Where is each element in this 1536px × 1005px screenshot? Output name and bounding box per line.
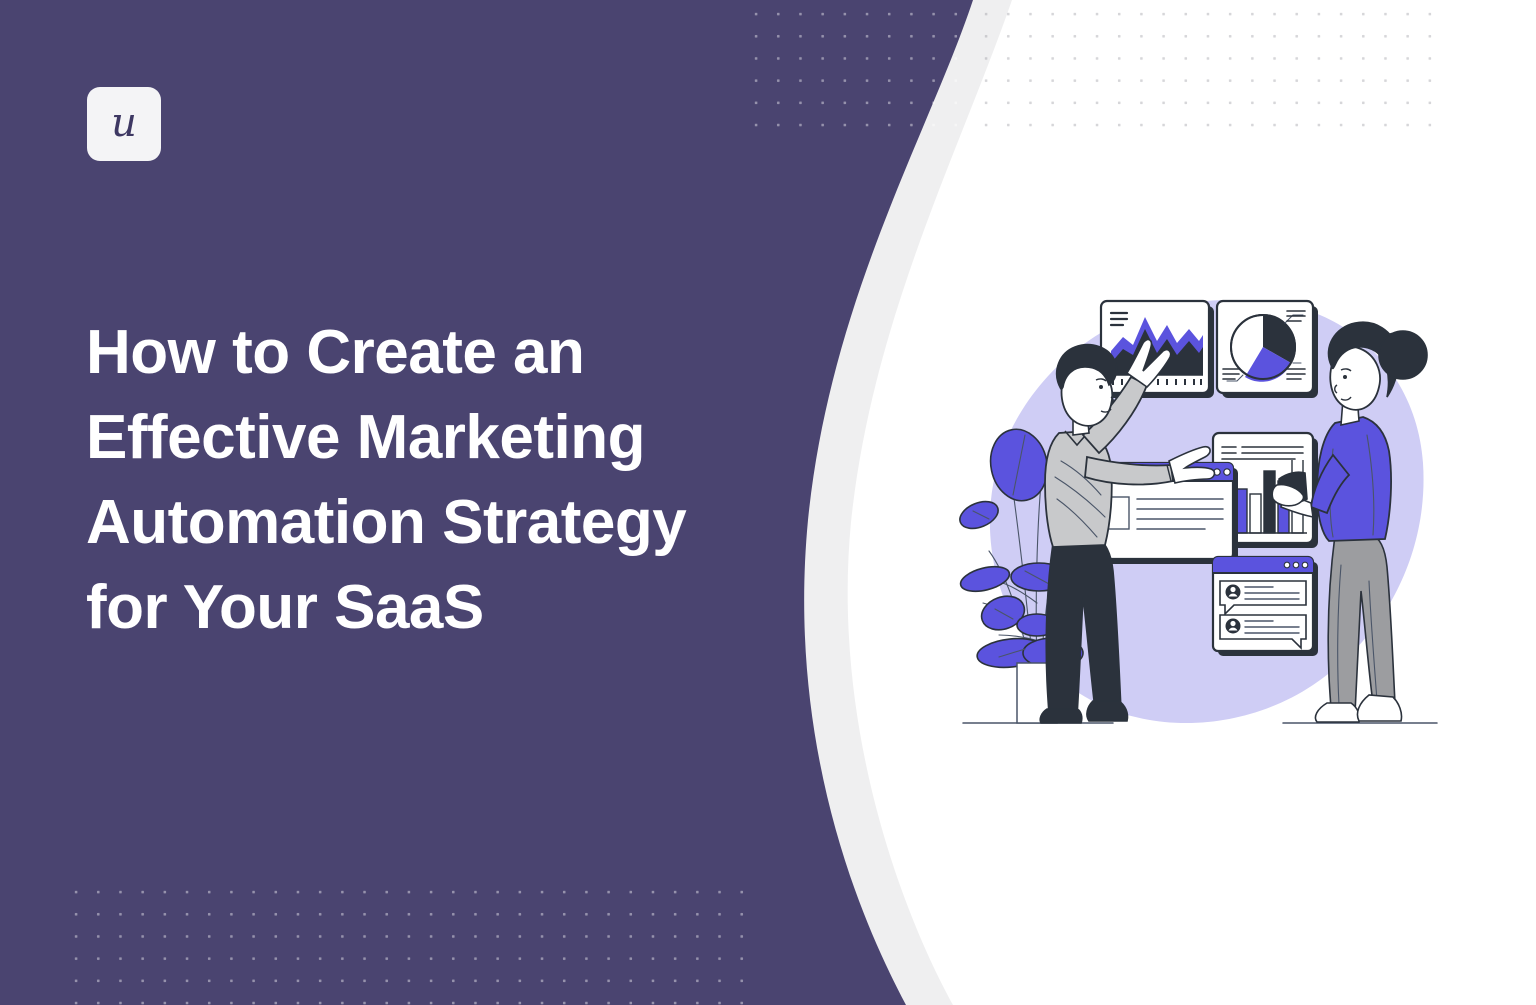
userpilot-logo[interactable]: u	[87, 87, 161, 161]
pie-chart-card	[1217, 301, 1318, 398]
hero-banner: u How to Create an Effective Marketing A…	[0, 0, 1536, 1005]
comments-window-dots	[1284, 562, 1308, 568]
man-eye	[1099, 385, 1103, 389]
comments-card	[1213, 557, 1318, 656]
page-title: How to Create an Effective Marketing Aut…	[86, 310, 746, 650]
team-analytics-dashboard-illustration: .ln { fill:none; stroke:#4A5568; stroke-…	[955, 285, 1445, 755]
woman-eye	[1343, 375, 1347, 379]
man-shoe	[1040, 709, 1082, 723]
woman-hair-bun	[1379, 331, 1427, 379]
logo-glyph: u	[111, 103, 137, 143]
man-shoe	[1087, 701, 1128, 721]
woman-shoe	[1357, 695, 1401, 721]
woman-shoe	[1315, 703, 1359, 722]
area-chart-card	[1101, 301, 1214, 398]
